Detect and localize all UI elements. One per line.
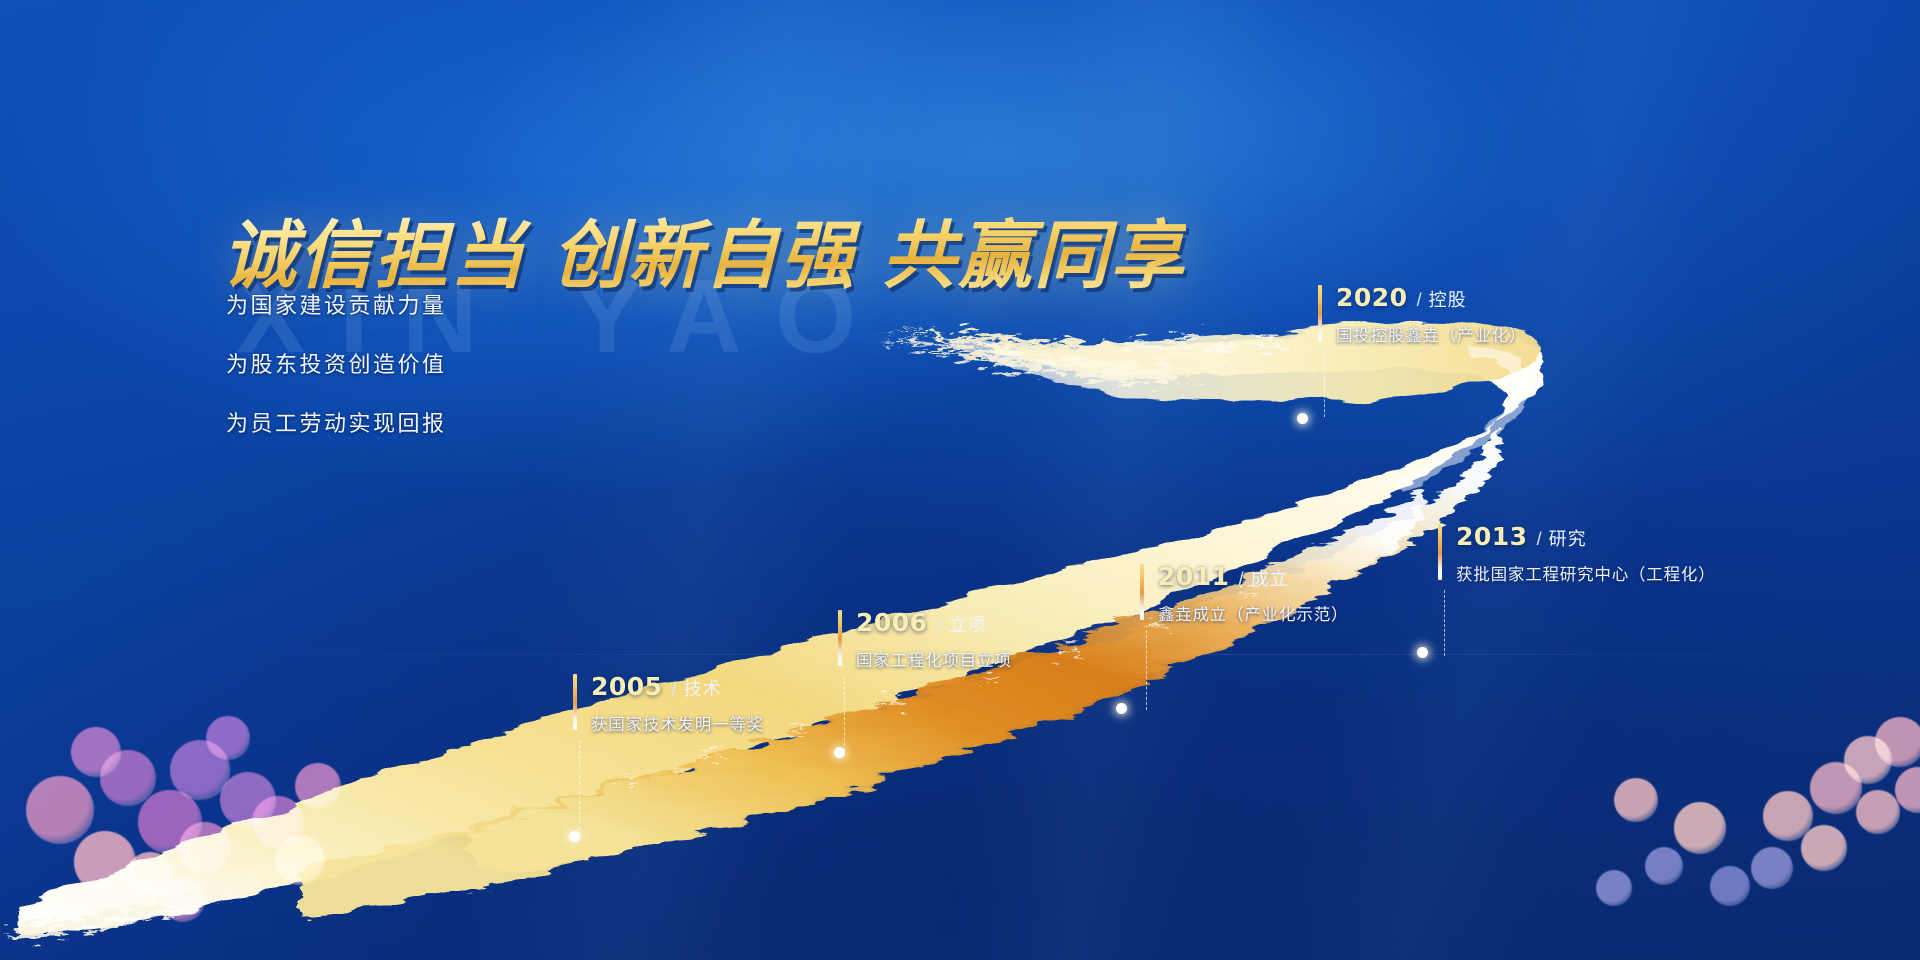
bokeh-circle xyxy=(1875,717,1920,767)
bokeh-circle xyxy=(71,727,121,777)
milestone-separator: / xyxy=(672,679,677,700)
bokeh-circle xyxy=(1614,778,1658,822)
poster-canvas: XIN YAO 诚信担当创新自强共赢同享 为国家建设贡献力量 为股东投资创造价值… xyxy=(0,0,1920,960)
headline-part-1: 诚信担当 xyxy=(222,213,526,299)
bokeh-circle xyxy=(1801,825,1847,871)
milestone-separator: / xyxy=(1537,529,1542,550)
milestone-leader-line xyxy=(844,676,845,756)
bokeh-circle xyxy=(206,716,250,760)
milestone-category: 成立 xyxy=(1251,565,1289,591)
milestone-dot[interactable] xyxy=(569,831,580,842)
milestone-description: 鑫垚成立（产业化示范） xyxy=(1158,601,1348,625)
milestone-leader-line xyxy=(1146,630,1147,710)
milestone-leader-line xyxy=(1324,351,1325,417)
bokeh-circle xyxy=(1674,802,1726,854)
milestone-category: 立项 xyxy=(949,611,987,637)
milestone-dot[interactable] xyxy=(1417,647,1428,658)
bokeh-circle xyxy=(1710,866,1750,906)
milestone-category: 控股 xyxy=(1429,286,1467,312)
milestone-separator: / xyxy=(1239,569,1244,590)
slogan-line: 为国家建设贡献力量 xyxy=(226,288,447,320)
milestone-dot[interactable] xyxy=(1297,413,1308,424)
bokeh-circle xyxy=(295,763,341,809)
timeline-milestone[interactable]: 2013/研究获批国家工程研究中心（工程化） xyxy=(1438,522,1716,585)
milestone-separator: / xyxy=(937,615,942,636)
milestone-category: 技术 xyxy=(684,675,722,701)
bokeh-circle xyxy=(1645,847,1683,885)
slogan-line: 为员工劳动实现回报 xyxy=(226,406,447,438)
timeline-milestone[interactable]: 2020/控股国投控股鑫垚（产业化） xyxy=(1318,283,1526,346)
milestone-year: 2005 xyxy=(591,672,663,701)
milestone-description: 国家工程化项目立项 xyxy=(856,647,1012,671)
milestone-year: 2006 xyxy=(856,608,928,637)
milestone-accent-bar xyxy=(1318,285,1322,341)
milestone-accent-bar xyxy=(1438,524,1442,580)
slogan-line: 为股东投资创造价值 xyxy=(226,347,447,379)
milestone-description: 获批国家工程研究中心（工程化） xyxy=(1456,561,1716,585)
milestone-dot[interactable] xyxy=(834,747,845,758)
timeline-milestone[interactable]: 2006/立项国家工程化项目立项 xyxy=(838,608,1012,671)
bokeh-circle xyxy=(1856,790,1900,834)
milestone-leader-line xyxy=(579,740,580,840)
bokeh-circle xyxy=(26,776,94,844)
bokeh-circle xyxy=(275,835,325,885)
milestone-leader-line xyxy=(1444,590,1445,656)
milestone-dot[interactable] xyxy=(1116,703,1127,714)
milestone-category: 研究 xyxy=(1549,525,1587,551)
timeline-milestone[interactable]: 2005/技术获国家技术发明一等奖 xyxy=(573,672,764,735)
milestone-year: 2011 xyxy=(1158,562,1230,591)
bokeh-circle xyxy=(161,878,205,922)
milestone-accent-bar xyxy=(1140,564,1144,620)
milestone-year: 2020 xyxy=(1336,283,1408,312)
milestone-separator: / xyxy=(1417,290,1422,311)
slogan-list: 为国家建设贡献力量 为股东投资创造价值 为员工劳动实现回报 xyxy=(226,288,447,465)
milestone-description: 获国家技术发明一等奖 xyxy=(591,711,764,735)
bokeh-circle xyxy=(1751,847,1793,889)
timeline-milestone[interactable]: 2011/成立鑫垚成立（产业化示范） xyxy=(1140,562,1348,625)
bokeh-circle xyxy=(179,822,231,874)
headline-part-3: 共赢同享 xyxy=(882,213,1186,299)
page-title: 诚信担当创新自强共赢同享 xyxy=(222,196,1186,303)
milestone-description: 国投控股鑫垚（产业化） xyxy=(1336,322,1526,346)
bokeh-circle xyxy=(1596,870,1632,906)
milestone-year: 2013 xyxy=(1456,522,1528,551)
headline-part-2: 创新自强 xyxy=(552,213,856,299)
milestone-accent-bar xyxy=(573,674,577,730)
milestone-accent-bar xyxy=(838,610,842,666)
